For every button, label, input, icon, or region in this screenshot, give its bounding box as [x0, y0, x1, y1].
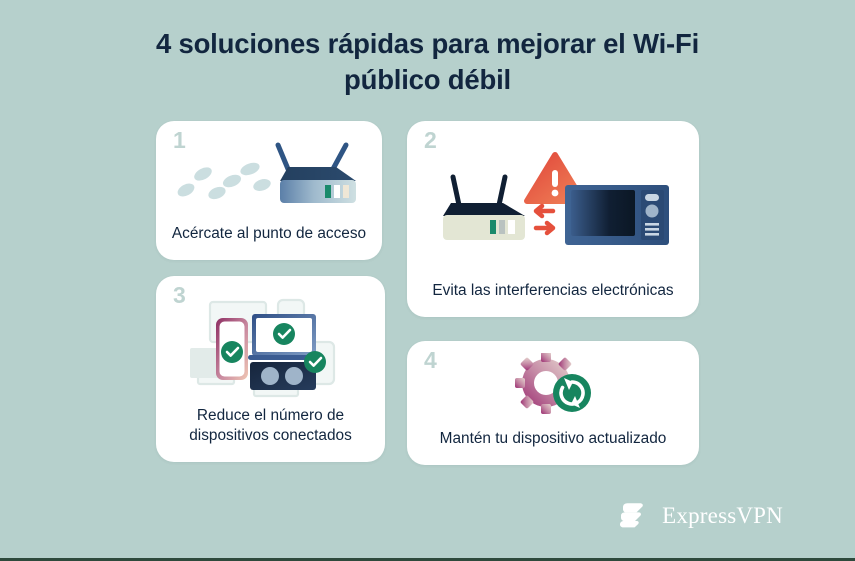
page-title: 4 soluciones rápidas para mejorar el Wi-…	[0, 26, 855, 99]
connected-devices-checkmarks-icon	[182, 296, 360, 400]
tip-card-4[interactable]: 4	[407, 341, 699, 465]
card-label-2: Evita las interferencias electrónicas	[417, 281, 689, 301]
expressvpn-logo-text: ExpressVPN	[662, 504, 783, 527]
router-microwave-warning-icon	[437, 143, 669, 253]
card-number-2: 2	[424, 129, 437, 152]
footprints-router-icon	[170, 141, 368, 217]
infographic-canvas: 4 soluciones rápidas para mejorar el Wi-…	[0, 0, 855, 561]
expressvpn-mark-icon	[616, 498, 650, 532]
tip-card-2[interactable]: 2	[407, 121, 699, 317]
card-label-4: Mantén tu dispositivo actualizado	[417, 429, 689, 449]
tip-card-1[interactable]: 1	[156, 121, 382, 260]
tip-card-3[interactable]: 3	[156, 276, 385, 462]
expressvpn-logo[interactable]: ExpressVPN	[616, 498, 783, 532]
card-number-4: 4	[424, 349, 437, 372]
card-label-1: Acércate al punto de acceso	[166, 224, 372, 244]
card-label-3: Reduce el número de dispositivos conecta…	[166, 406, 375, 446]
gear-refresh-icon	[503, 353, 603, 415]
